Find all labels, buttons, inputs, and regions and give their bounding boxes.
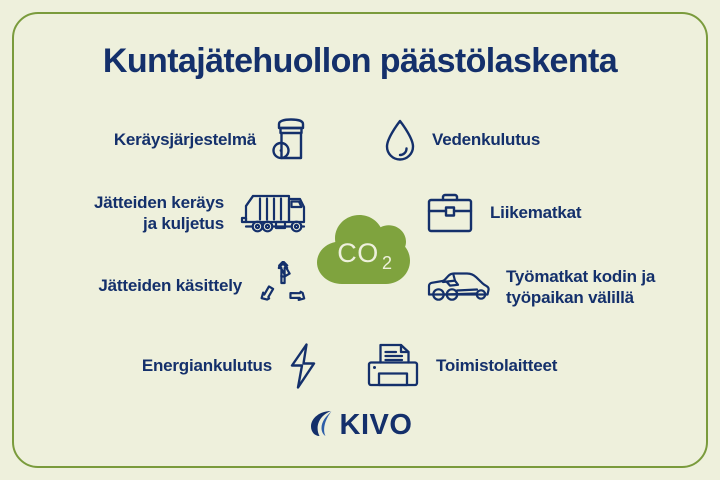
- item-energiankulutus: Energiankulutus: [80, 336, 320, 396]
- item-liikematkat: Liikematkat: [424, 182, 692, 244]
- item-label-line2: työpaikan välillä: [506, 287, 655, 308]
- kivo-logo-text: KIVO: [340, 409, 413, 442]
- item-vedenkulutus: Vedenkulutus: [382, 112, 652, 168]
- item-label-line1: Jätteiden keräys: [94, 192, 224, 213]
- kivo-logo: KIVO: [0, 408, 720, 443]
- waste-bin-icon: [270, 116, 310, 164]
- item-label-line1: Työmatkat kodin ja: [506, 266, 655, 287]
- garbage-truck-icon: [238, 188, 310, 238]
- item-jatteiden-kerays: Jätteiden keräys ja kuljetus: [20, 182, 310, 244]
- co2-label-main: CO: [337, 238, 379, 268]
- item-label-jatteiden-kasittely: Jätteiden käsittely: [98, 275, 242, 296]
- item-label-vedenkulutus: Vedenkulutus: [432, 129, 540, 150]
- item-label-jatteiden-kerays: Jätteiden keräys ja kuljetus: [94, 192, 224, 235]
- printer-icon: [364, 341, 422, 391]
- co2-cloud-icon: CO 2: [311, 212, 411, 288]
- water-drop-icon: [382, 117, 418, 163]
- item-label-liikematkat: Liikematkat: [490, 202, 581, 223]
- briefcase-icon: [424, 190, 476, 236]
- item-jatteiden-kasittely: Jätteiden käsittely: [20, 256, 310, 316]
- item-label-keraysjarjestelma: Keräysjärjestelmä: [114, 129, 256, 150]
- page-title: Kuntajätehuollon päästölaskenta: [0, 42, 720, 81]
- co2-label-sub: 2: [382, 253, 392, 273]
- kivo-leaf-mark-icon: [308, 408, 336, 443]
- item-tyomatkat: Työmatkat kodin ja työpaikan välillä: [424, 254, 704, 320]
- lightning-bolt-icon: [286, 341, 320, 391]
- item-label-toimistolaitteet: Toimistolaitteet: [436, 355, 557, 376]
- item-label-line2: ja kuljetus: [94, 213, 224, 234]
- item-label-tyomatkat: Työmatkat kodin ja työpaikan välillä: [506, 266, 655, 309]
- item-toimistolaitteet: Toimistolaitteet: [364, 336, 624, 396]
- car-icon: [424, 266, 492, 308]
- item-keraysjarjestelma: Keräysjärjestelmä: [60, 112, 310, 168]
- recycling-icon: [256, 261, 310, 311]
- item-label-energiankulutus: Energiankulutus: [142, 355, 272, 376]
- infographic-poster: Kuntajätehuollon päästölaskenta Keräysjä…: [0, 0, 720, 480]
